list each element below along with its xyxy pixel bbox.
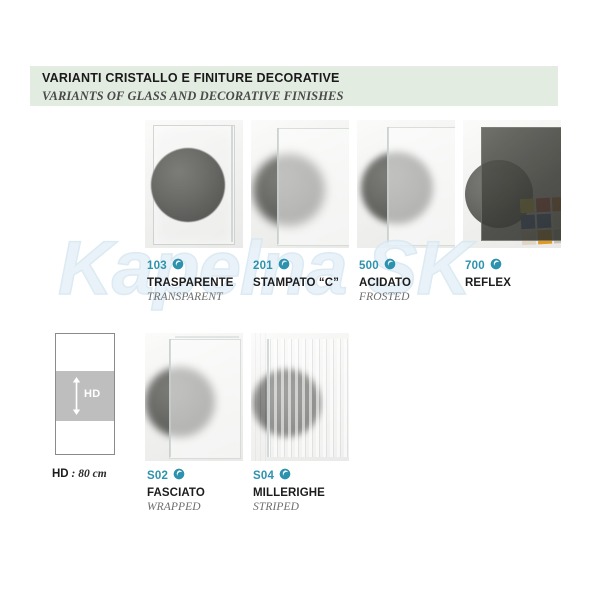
wrapped-glass-pane — [169, 339, 241, 459]
finish-name-it: ACIDATO — [359, 277, 411, 289]
pane-edge-top — [175, 336, 239, 338]
code-row: S04 — [253, 468, 325, 483]
swatch-image-reflex[interactable] — [463, 120, 561, 248]
sphere-sample — [151, 148, 225, 222]
code-row: S02 — [147, 468, 205, 483]
hd-caption-value: 80 cm — [78, 468, 106, 480]
finish-name-it: MILLERIGHE — [253, 487, 325, 499]
hd-caption-sep: : — [69, 468, 79, 480]
finish-code: S04 — [253, 470, 274, 482]
hd-caption: HD : 80 cm — [52, 468, 107, 480]
finish-code: 201 — [253, 260, 273, 272]
caption-millerighe: S04 MILLERIGHE STRIPED — [253, 468, 325, 513]
swirl-icon — [172, 257, 184, 275]
hd-caption-label: HD — [52, 468, 69, 480]
finish-code: 500 — [359, 260, 379, 272]
swirl-icon — [279, 467, 291, 485]
hd-diagram: HD — [55, 333, 115, 455]
finish-name-it: REFLEX — [465, 277, 511, 289]
pane-edge — [169, 339, 171, 457]
caption-stampato-c: 201 STAMPATO “C” — [253, 258, 339, 291]
swirl-icon — [384, 257, 396, 275]
swatch-image-trasparente[interactable] — [145, 120, 243, 248]
swatch-image-millerighe[interactable] — [251, 333, 349, 461]
finish-code: 700 — [465, 260, 485, 272]
pane-edge — [277, 128, 279, 244]
finish-code: 103 — [147, 260, 167, 272]
frosted-glass-pane — [387, 127, 455, 246]
striped-glass-edge — [251, 333, 267, 461]
swatch-image-acidato[interactable] — [357, 120, 455, 248]
finish-name-it: FASCIATO — [147, 487, 205, 499]
finish-name-en: TRANSPARENT — [147, 291, 234, 303]
striped-glass-pane — [267, 339, 349, 457]
pane-edge — [387, 127, 389, 244]
code-row: 103 — [147, 258, 234, 273]
hd-band-label: HD — [84, 388, 101, 400]
pane-edge — [231, 126, 233, 242]
pane-edge — [267, 339, 269, 457]
caption-fasciato: S02 FASCIATO WRAPPED — [147, 468, 205, 513]
caption-trasparente: 103 TRASPARENTE TRANSPARENT — [147, 258, 234, 303]
page-subtitle: VARIANTS OF GLASS AND DECORATIVE FINISHE… — [42, 89, 344, 104]
caption-acidato: 500 ACIDATO FROSTED — [359, 258, 411, 303]
code-row: 201 — [253, 258, 339, 273]
swirl-icon — [278, 257, 290, 275]
caption-reflex: 700 REFLEX — [465, 258, 511, 291]
hd-double-arrow-icon — [72, 377, 81, 415]
swirl-icon — [490, 257, 502, 275]
swatch-image-stampato-c[interactable] — [251, 120, 349, 248]
finish-name-en: FROSTED — [359, 291, 411, 303]
finish-name-en: STRIPED — [253, 501, 325, 513]
finish-code: S02 — [147, 470, 168, 482]
code-row: 700 — [465, 258, 511, 273]
page-title: VARIANTI CRISTALLO E FINITURE DECORATIVE — [42, 71, 340, 85]
finish-name-it: TRASPARENTE — [147, 277, 234, 289]
swirl-icon — [173, 467, 185, 485]
patterned-glass-pane — [277, 128, 349, 246]
mirror-panel — [481, 127, 561, 241]
swatch-image-fasciato[interactable] — [145, 333, 243, 461]
code-row: 500 — [359, 258, 411, 273]
finish-name-it: STAMPATO “C” — [253, 277, 339, 289]
finish-name-en: WRAPPED — [147, 501, 205, 513]
